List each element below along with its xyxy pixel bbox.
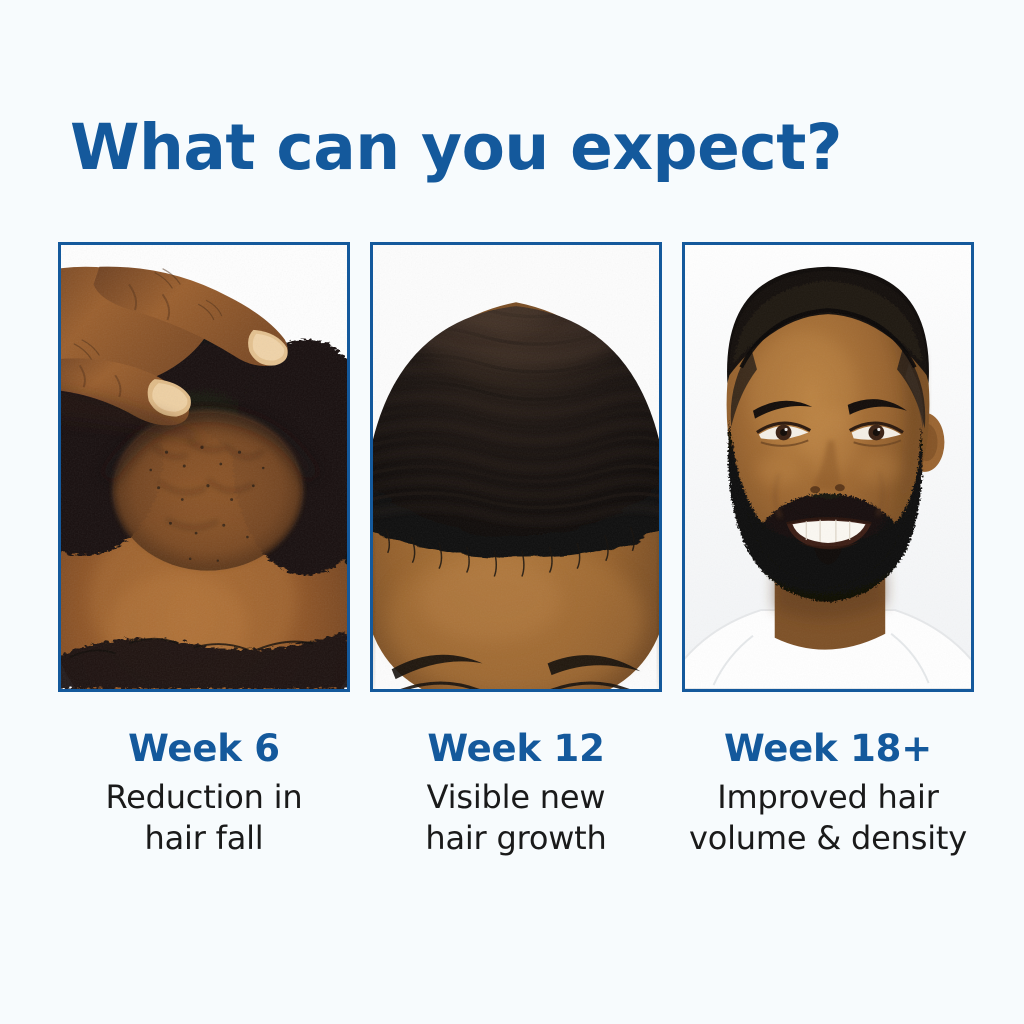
timeline-card-week-6: Week 6 Reduction in hair fall xyxy=(58,242,350,859)
week-description: Reduction in hair fall xyxy=(58,777,350,859)
description-line-2: hair growth xyxy=(370,818,662,859)
week-description: Improved hair volume & density xyxy=(682,777,974,859)
hand-lifting-hair-thinning-crown-image xyxy=(61,245,347,689)
description-line-1: Improved hair xyxy=(682,777,974,818)
caption-week-18-plus: Week 18+ Improved hair volume & density xyxy=(682,728,974,859)
description-line-2: hair fall xyxy=(58,818,350,859)
photo-frame-week-12 xyxy=(370,242,662,692)
timeline-card-week-18-plus: Week 18+ Improved hair volume & density xyxy=(682,242,974,859)
description-line-1: Visible new xyxy=(370,777,662,818)
description-line-1: Reduction in xyxy=(58,777,350,818)
promo-page: What can you expect? xyxy=(0,0,1024,1024)
photo-frame-week-18-plus xyxy=(682,242,974,692)
caption-week-6: Week 6 Reduction in hair fall xyxy=(58,728,350,859)
week-label: Week 18+ xyxy=(682,728,974,769)
week-description: Visible new hair growth xyxy=(370,777,662,859)
top-of-head-dense-wavy-hair-image xyxy=(373,245,659,689)
timeline-card-week-12: Week 12 Visible new hair growth xyxy=(370,242,662,859)
week-label: Week 12 xyxy=(370,728,662,769)
smiling-bearded-man-portrait-image xyxy=(685,245,971,689)
week-label: Week 6 xyxy=(58,728,350,769)
photo-frame-week-6 xyxy=(58,242,350,692)
caption-week-12: Week 12 Visible new hair growth xyxy=(370,728,662,859)
page-title: What can you expect? xyxy=(70,116,950,179)
timeline-cards: Week 6 Reduction in hair fall xyxy=(58,242,974,859)
description-line-2: volume & density xyxy=(682,818,974,859)
